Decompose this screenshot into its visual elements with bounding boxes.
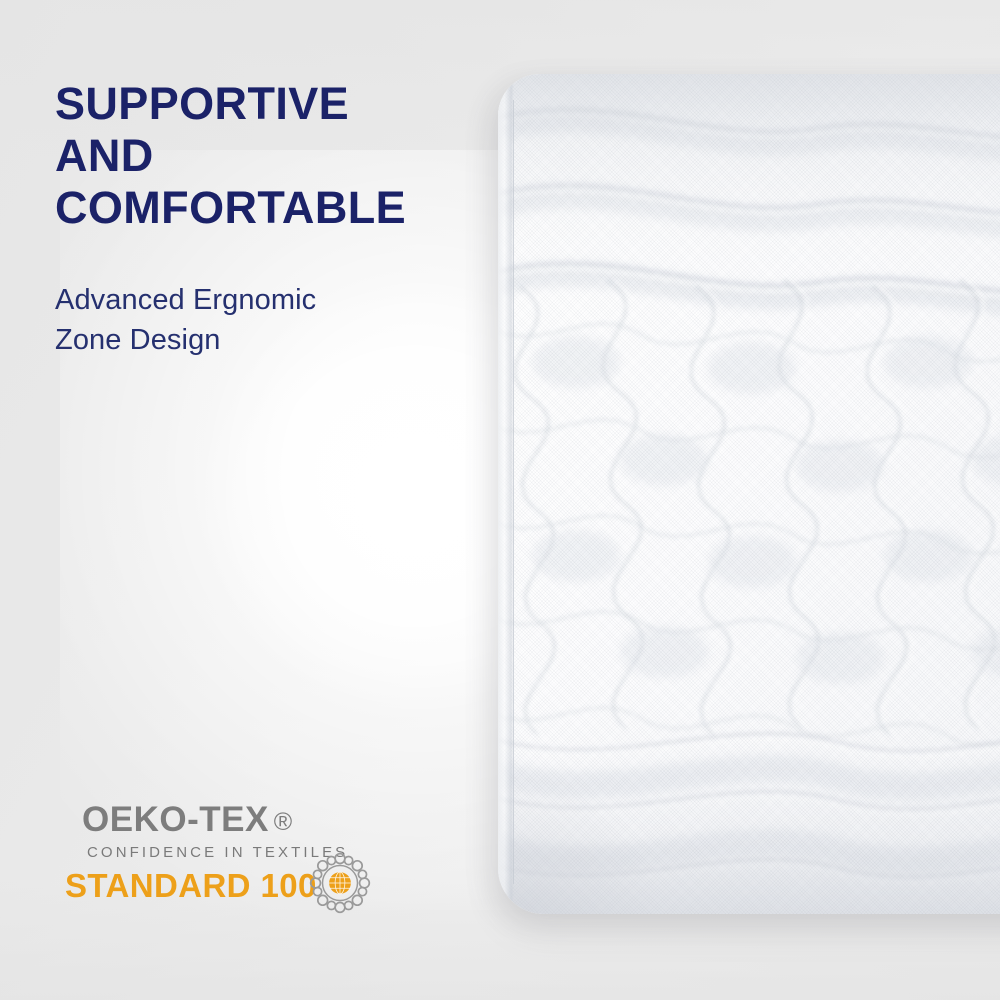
mattress-quilting-illustration — [498, 74, 1000, 914]
mattress-product-image — [498, 74, 1000, 914]
page-title: SUPPORTIVE AND COMFORTABLE — [55, 78, 475, 234]
oeko-tex-standard-label: STANDARD 100 — [65, 866, 317, 906]
page-subtitle: Advanced Ergnomic Zone Design — [55, 280, 455, 360]
oeko-tex-certification-badge: OEKO-TEX ® CONFIDENCE IN TEXTILES STANDA… — [62, 800, 382, 918]
oeko-tex-brand-label: OEKO-TEX — [82, 800, 269, 840]
oeko-tex-brand-row: OEKO-TEX ® — [82, 800, 293, 842]
registered-trademark-icon: ® — [274, 802, 293, 842]
oeko-tex-globe-knot-icon — [307, 850, 373, 916]
product-marketing-banner: SUPPORTIVE AND COMFORTABLE Advanced Ergn… — [0, 0, 1000, 1000]
